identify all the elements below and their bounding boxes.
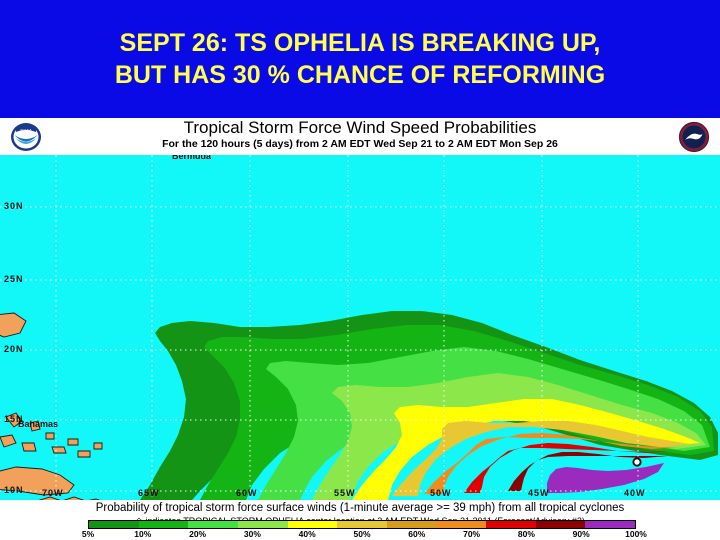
color-scale-swatch-5pct	[89, 521, 139, 528]
color-scale-label-60pct: 60%	[408, 529, 425, 539]
color-scale-ticks: 5%10%20%30%40%50%60%70%80%90%100%	[88, 529, 636, 540]
caption-line-1: Probability of tropical storm force surf…	[0, 500, 720, 515]
color-scale-swatch-40pct	[288, 521, 338, 528]
probability-map: 30N 25N 20N 15N 10N 70W 65W 60W 55W 50W …	[0, 155, 720, 500]
title-banner: SEPT 26: TS OPHELIA IS BREAKING UP, BUT …	[0, 0, 720, 118]
place-label-bermuda: Bermuda	[172, 155, 211, 161]
nhc-logo	[678, 121, 710, 153]
graphic-header: NOAA Tropical Storm Force Wind Speed Pro…	[0, 118, 720, 155]
place-label-bahamas: Bahamas	[18, 419, 58, 429]
color-scale-label-90pct: 90%	[573, 529, 590, 539]
color-scale-swatch-90pct	[536, 521, 586, 528]
color-scale-label-10pct: 10%	[134, 529, 151, 539]
color-scale-label-50pct: 50%	[353, 529, 370, 539]
storm-center-marker	[632, 457, 641, 466]
color-scale-swatch-10pct	[139, 521, 189, 528]
map-title: Tropical Storm Force Wind Speed Probabil…	[60, 118, 660, 138]
lon-label-60w: 60W	[236, 488, 258, 498]
color-scale-label-5pct: 5%	[82, 529, 94, 539]
title-line-1: SEPT 26: TS OPHELIA IS BREAKING UP,	[120, 27, 601, 59]
color-scale-swatch-30pct	[238, 521, 288, 528]
lat-label-20n: 20N	[4, 344, 24, 354]
color-scale-swatch-20pct	[188, 521, 238, 528]
lon-label-55w: 55W	[334, 488, 356, 498]
land-bahamas-5	[46, 433, 54, 439]
color-scale-bar	[88, 520, 636, 529]
color-scale-label-80pct: 80%	[518, 529, 535, 539]
color-scale-swatch-80pct	[486, 521, 536, 528]
color-scale-label-20pct: 20%	[189, 529, 206, 539]
land-bahamas-3	[22, 443, 36, 451]
lat-label-25n: 25N	[4, 274, 24, 284]
land-bahamas-7	[68, 439, 78, 445]
forecast-graphic: NOAA Tropical Storm Force Wind Speed Pro…	[0, 118, 720, 540]
lat-label-10n: 10N	[4, 485, 24, 495]
map-canvas	[0, 155, 720, 500]
lat-label-30n: 30N	[4, 201, 24, 211]
lon-label-50w: 50W	[430, 488, 452, 498]
title-line-2: BUT HAS 30 % CHANCE OF REFORMING	[115, 59, 605, 91]
color-scale-label-30pct: 30%	[244, 529, 261, 539]
probability-color-scale: 5%10%20%30%40%50%60%70%80%90%100%	[0, 520, 720, 540]
map-subtitle: For the 120 hours (5 days) from 2 AM EDT…	[60, 138, 660, 151]
color-scale-swatch-100pct	[585, 521, 635, 528]
lon-label-70w: 70W	[42, 488, 64, 498]
svg-text:NOAA: NOAA	[20, 128, 32, 133]
lon-label-65w: 65W	[138, 488, 160, 498]
color-scale-swatch-50pct	[337, 521, 387, 528]
land-bahamas-9	[94, 443, 102, 449]
land-bahamas-8	[78, 451, 90, 457]
lon-label-45w: 45W	[528, 488, 550, 498]
slide-root: SEPT 26: TS OPHELIA IS BREAKING UP, BUT …	[0, 0, 720, 540]
color-scale-swatch-60pct	[387, 521, 437, 528]
graphic-header-text: Tropical Storm Force Wind Speed Probabil…	[60, 118, 660, 155]
color-scale-label-100pct: 100%	[625, 529, 647, 539]
color-scale-label-70pct: 70%	[463, 529, 480, 539]
lon-label-40w: 40W	[624, 488, 646, 498]
color-scale-label-40pct: 40%	[299, 529, 316, 539]
noaa-logo: NOAA	[10, 121, 42, 153]
color-scale-swatch-70pct	[436, 521, 486, 528]
land-bahamas-6	[52, 447, 66, 453]
